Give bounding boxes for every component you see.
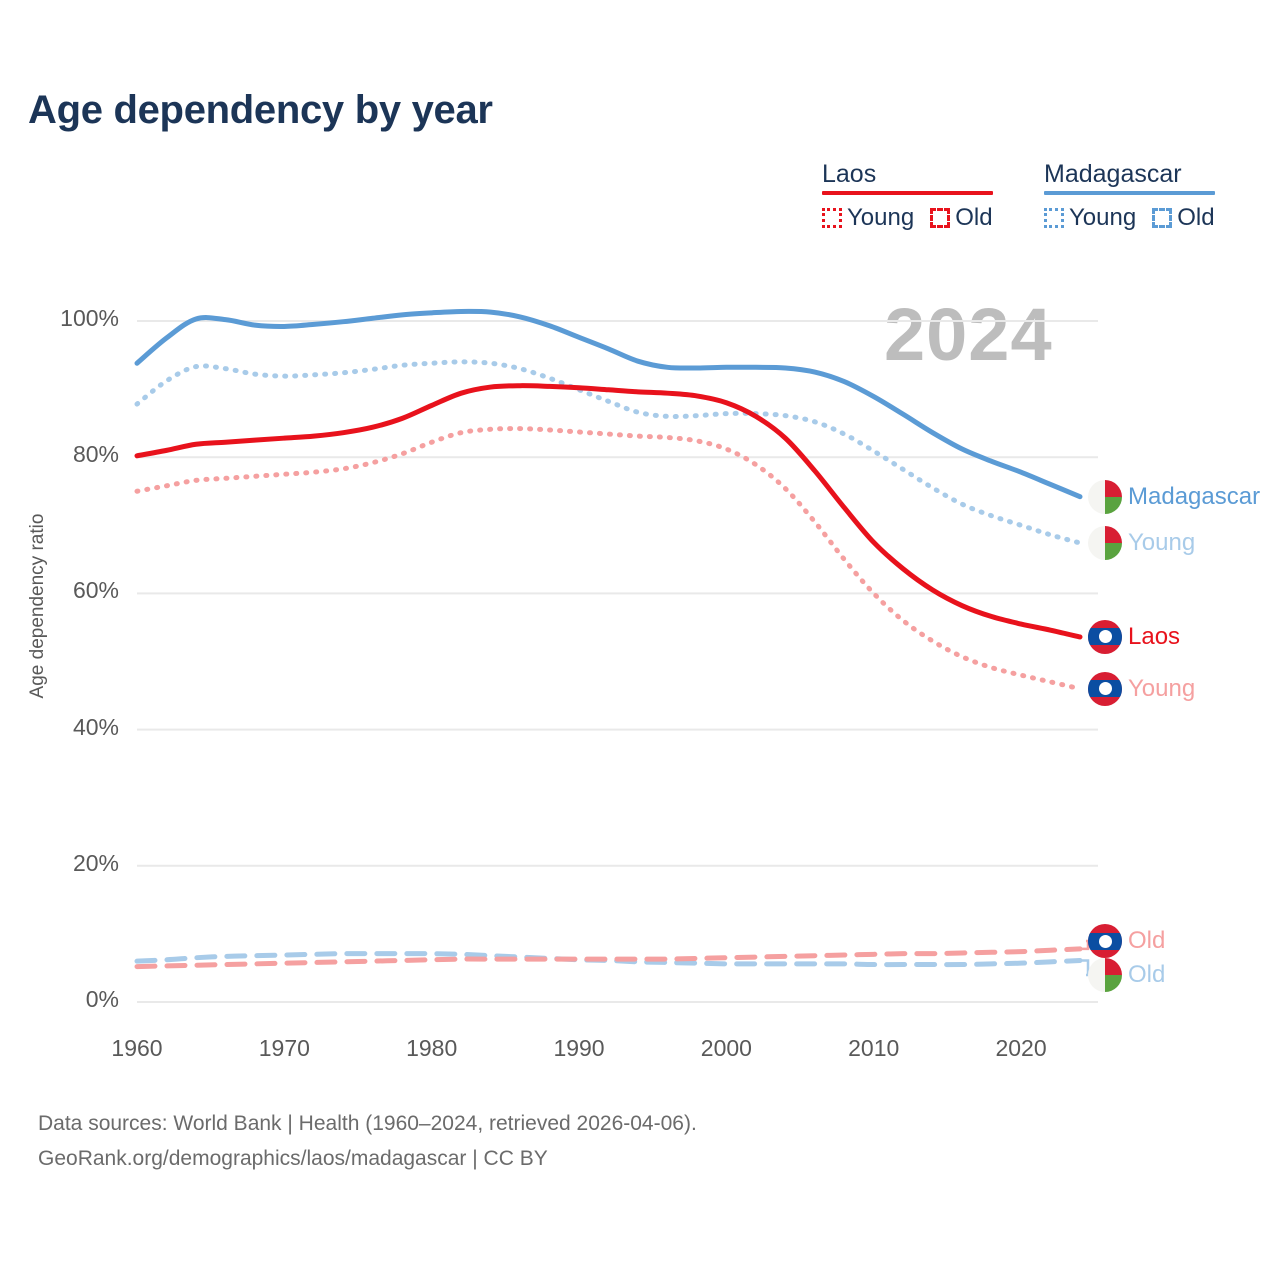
end-label-laos-2[interactable]: Laos xyxy=(1088,620,1180,654)
x-tick-1990: 1990 xyxy=(519,1035,639,1062)
y-tick-60: 60% xyxy=(9,577,119,604)
series-line-madagascar-old xyxy=(137,954,1080,965)
x-tick-2000: 2000 xyxy=(666,1035,786,1062)
madagascar-flag-icon xyxy=(1088,958,1122,992)
end-label-old-5[interactable]: Old xyxy=(1088,958,1165,992)
laos-flag-icon xyxy=(1088,924,1122,958)
y-axis-title: Age dependency ratio xyxy=(27,506,49,706)
x-tick-1970: 1970 xyxy=(224,1035,344,1062)
y-tick-20: 20% xyxy=(9,850,119,877)
footer-attribution: Data sources: World Bank | Health (1960–… xyxy=(38,1106,697,1176)
x-tick-1960: 1960 xyxy=(77,1035,197,1062)
y-tick-40: 40% xyxy=(9,714,119,741)
y-tick-80: 80% xyxy=(9,441,119,468)
end-label-text: Madagascar xyxy=(1128,483,1260,511)
end-label-text: Young xyxy=(1128,675,1195,703)
series-line-laos-old xyxy=(137,949,1080,967)
madagascar-flag-icon xyxy=(1088,480,1122,514)
footer-line-sources: Data sources: World Bank | Health (1960–… xyxy=(38,1106,697,1141)
end-label-young-3[interactable]: Young xyxy=(1088,672,1195,706)
laos-flag-icon xyxy=(1088,672,1122,706)
x-tick-2010: 2010 xyxy=(814,1035,934,1062)
series-line-laos-young xyxy=(137,429,1080,689)
end-label-old-4[interactable]: Old xyxy=(1088,924,1165,958)
series-line-laos xyxy=(137,386,1080,637)
end-label-text: Old xyxy=(1128,927,1165,955)
y-tick-100: 100% xyxy=(9,305,119,332)
footer-line-url: GeoRank.org/demographics/laos/madagascar… xyxy=(38,1141,697,1176)
y-tick-0: 0% xyxy=(9,986,119,1013)
end-label-text: Young xyxy=(1128,529,1195,557)
end-label-text: Laos xyxy=(1128,623,1180,651)
x-tick-2020: 2020 xyxy=(961,1035,1081,1062)
laos-flag-icon xyxy=(1088,620,1122,654)
series-line-madagascar xyxy=(137,311,1080,496)
chart-plot-area: 2024 Age dependency ratio 0%20%40%60%80%… xyxy=(0,0,1280,1080)
end-label-madagascar-0[interactable]: Madagascar xyxy=(1088,480,1260,514)
x-tick-1980: 1980 xyxy=(372,1035,492,1062)
end-label-young-1[interactable]: Young xyxy=(1088,526,1195,560)
madagascar-flag-icon xyxy=(1088,526,1122,560)
end-label-text: Old xyxy=(1128,961,1165,989)
